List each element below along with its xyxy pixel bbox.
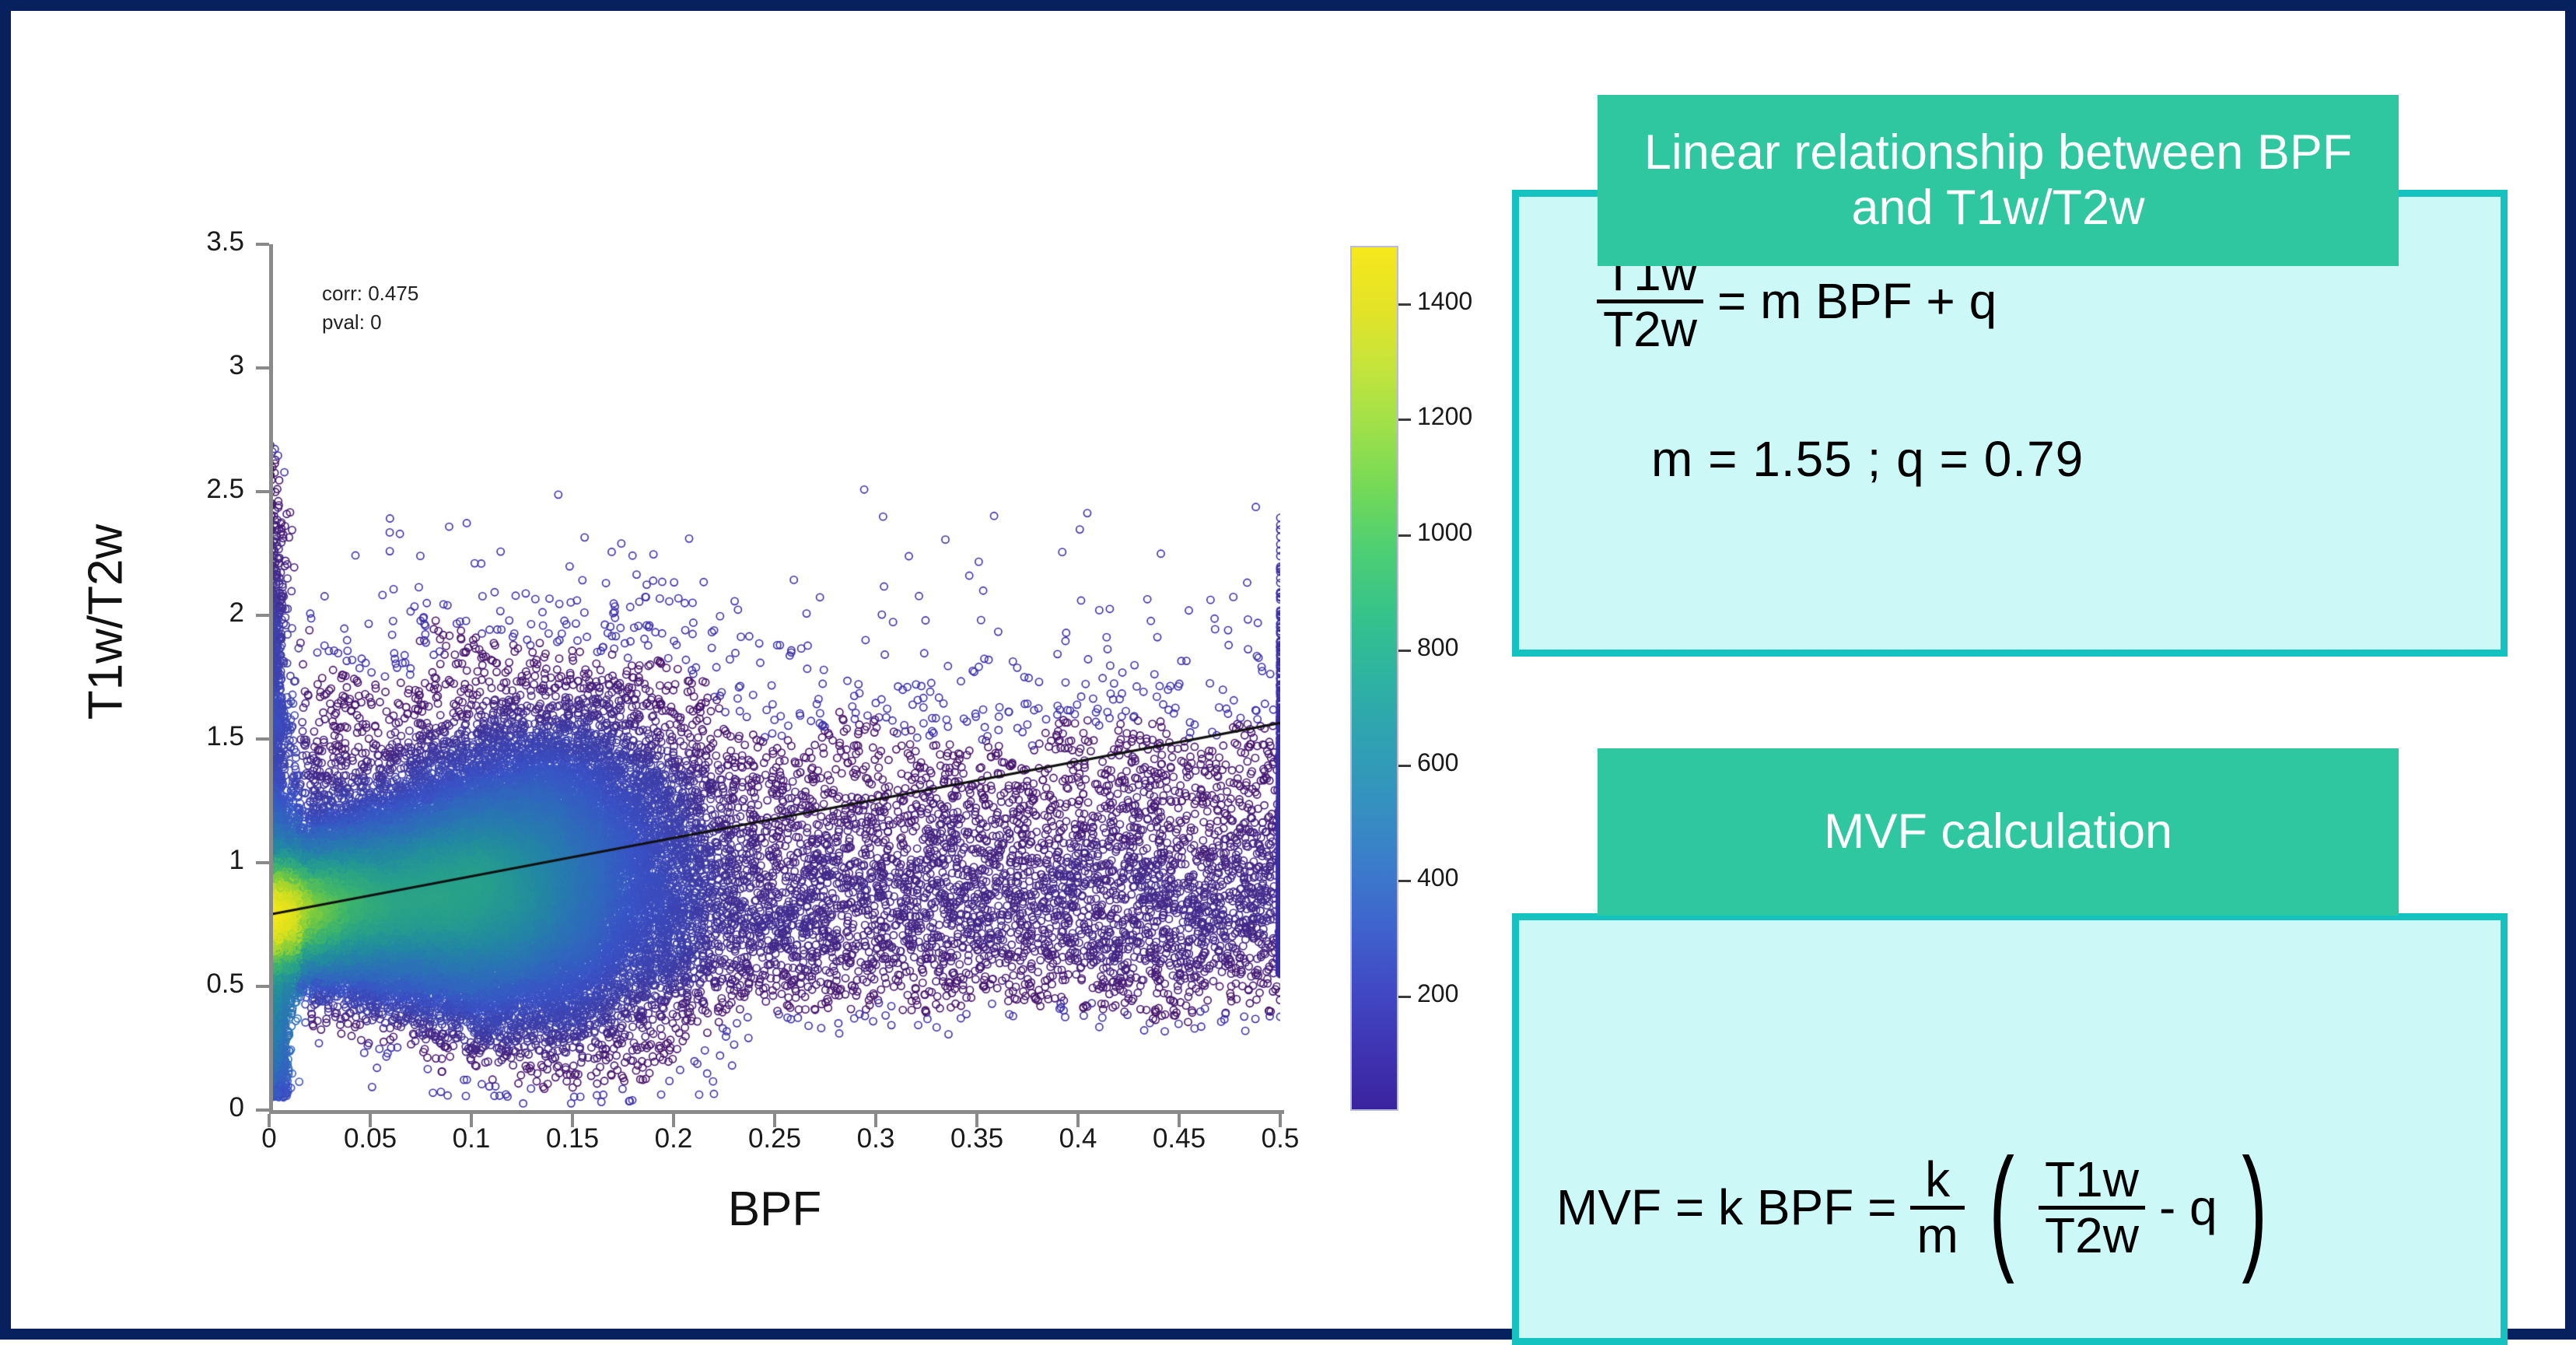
y-tick-label: 0 <box>120 1092 244 1123</box>
inner-rhs: - q <box>2159 1179 2217 1236</box>
y-tick <box>256 243 269 246</box>
y-tick-label: 3 <box>120 350 244 381</box>
colorbar-tick-label: 800 <box>1417 633 1458 662</box>
x-axis-line <box>269 1110 1284 1114</box>
fraction-k: k <box>1919 1154 1956 1206</box>
colorbar-tick <box>1398 765 1411 767</box>
colorbar-tick <box>1398 650 1411 652</box>
y-tick <box>256 1109 269 1112</box>
panel2-body: MVF = k BPF = k m ( T1w T2w - q ) <box>1512 913 2508 1345</box>
equation-parameters: m = 1.55 ; q = 0.79 <box>1651 430 2084 488</box>
colorbar-tick-label: 1400 <box>1417 287 1472 316</box>
y-tick-label: 2 <box>120 597 244 629</box>
colorbar-tick-label: 400 <box>1417 863 1458 892</box>
colorbar-tick <box>1398 303 1411 306</box>
y-tick <box>256 366 269 370</box>
y-tick <box>256 614 269 617</box>
inner-numerator: T1w <box>2039 1154 2145 1206</box>
colorbar-tick-label: 200 <box>1417 979 1458 1008</box>
y-tick <box>256 737 269 741</box>
panel-linear-relationship: T1w T2w = m BPF + q m = 1.55 ; q = 0.79 … <box>1512 65 2539 680</box>
figure-frame: 00.511.522.533.5 00.050.10.150.20.250.30… <box>0 0 2576 1340</box>
colorbar-tick <box>1398 880 1411 882</box>
y-tick-label: 0.5 <box>120 968 244 1000</box>
colorbar-tick-label: 1200 <box>1417 402 1472 431</box>
x-tick-label: 0.5 <box>1218 1123 1342 1154</box>
y-tick <box>256 490 269 493</box>
fraction-k-m: k m <box>1910 1154 1964 1261</box>
mvf-lhs: MVF = k BPF = <box>1556 1179 1896 1236</box>
x-axis-label: BPF <box>565 1182 985 1237</box>
panel2-header: MVF calculation <box>1598 748 2399 916</box>
equation-rhs: = m BPF + q <box>1717 272 1997 330</box>
colorbar-tick <box>1398 419 1411 421</box>
plot-area <box>269 244 1280 1110</box>
colorbar-tick-label: 1000 <box>1417 518 1472 547</box>
y-tick <box>256 861 269 864</box>
inner-denominator: T2w <box>2039 1206 2145 1262</box>
fraction-t1w-t2w-inner: T1w T2w <box>2039 1154 2145 1261</box>
fraction-denominator: T2w <box>1597 299 1703 356</box>
y-axis-line <box>269 244 273 1114</box>
fraction-m: m <box>1910 1206 1964 1262</box>
pval-value: pval: 0 <box>322 308 418 337</box>
scatter-figure: 00.511.522.533.5 00.050.10.150.20.250.30… <box>58 58 1481 1256</box>
y-axis-label: T1w/T2w <box>79 405 134 840</box>
density-scatter-canvas <box>269 244 1280 1110</box>
y-tick-label: 1 <box>120 845 244 876</box>
y-tick-label: 2.5 <box>120 474 244 505</box>
colorbar-tick <box>1398 534 1411 537</box>
corr-value: corr: 0.475 <box>322 279 418 308</box>
equation-mvf: MVF = k BPF = k m ( T1w T2w - q ) <box>1556 1154 2277 1261</box>
y-tick <box>256 985 269 988</box>
colorbar-tick <box>1398 996 1411 998</box>
paren-open-icon: ( <box>1989 1165 2014 1250</box>
panel1-header: Linear relationship between BPF and T1w/… <box>1598 95 2399 266</box>
panel-mvf-calculation: MVF = k BPF = k m ( T1w T2w - q ) MVF ca… <box>1512 734 2539 1294</box>
colorbar-tick-label: 600 <box>1417 748 1458 777</box>
y-tick-label: 1.5 <box>120 721 244 752</box>
stats-annotation: corr: 0.475 pval: 0 <box>322 279 418 337</box>
colorbar <box>1350 246 1398 1111</box>
paren-close-icon: ) <box>2242 1165 2267 1250</box>
y-tick-label: 3.5 <box>120 226 244 257</box>
